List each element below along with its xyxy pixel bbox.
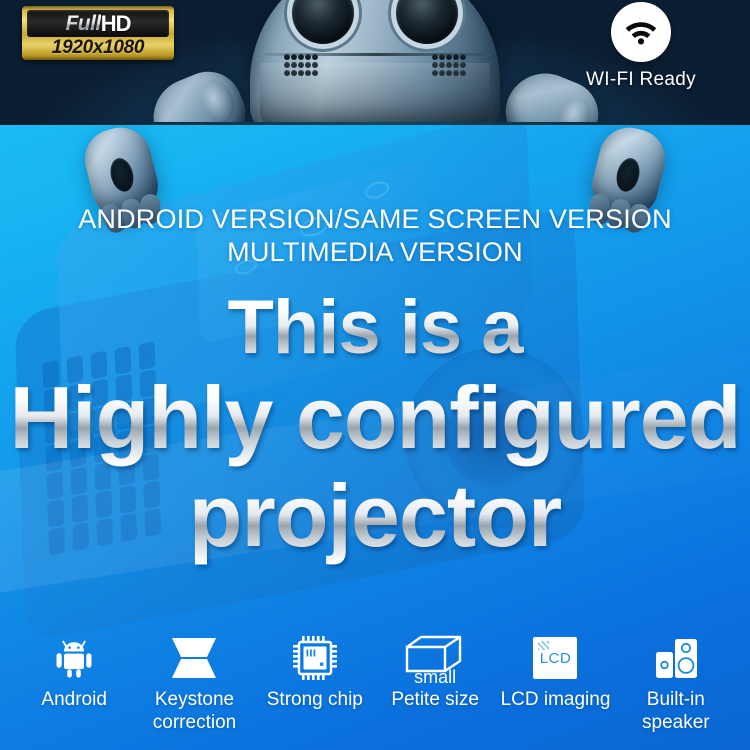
feature-label-android: Android [14, 688, 134, 711]
wifi-ready-label: WI-FI Ready [566, 69, 716, 91]
feature-android: Android [14, 634, 134, 711]
robot-grille-right [432, 54, 466, 80]
robot-head-shell [250, 0, 500, 125]
full-hd-word-hd: HD [101, 11, 131, 37]
wifi-ready-badge: WI-FI Ready [566, 2, 716, 91]
full-hd-word-full: Full [65, 12, 100, 36]
robot-knuckle-icon [613, 156, 643, 194]
feature-label-keystone: Keystone correction [134, 688, 254, 734]
full-hd-badge: FullHD 1920x1080 [22, 6, 174, 60]
android-robot-icon [14, 634, 134, 682]
feature-lcd: LCD LCD imaging [495, 634, 615, 711]
feature-row: Android Keystone correction [0, 628, 750, 750]
full-hd-resolution-text: 1920x1080 [27, 37, 169, 58]
small-box-shape: small [404, 634, 466, 682]
robot-eye-right-icon [396, 0, 458, 44]
feature-petite-size: small Petite size [375, 634, 495, 711]
robot-eye-left-icon [292, 0, 354, 44]
feature-keystone: Keystone correction [134, 634, 254, 734]
subheading-block: ANDROID VERSION/SAME SCREEN VERSION MULT… [0, 203, 750, 269]
keystone-correction-icon [134, 634, 254, 682]
subheading-line-2: MULTIMEDIA VERSION [0, 236, 750, 269]
feature-label-lcd: LCD imaging [495, 688, 615, 711]
wifi-icon [611, 2, 671, 62]
feature-chip: Strong chip [255, 634, 375, 711]
robot-knuckle-icon [107, 156, 137, 194]
feature-label-chip: Strong chip [255, 688, 375, 711]
small-box-caption: small [404, 668, 466, 686]
lcd-screen-shape: LCD [533, 637, 577, 679]
lcd-screen-caption: LCD [540, 650, 572, 667]
headline-line-3: projector [0, 467, 750, 565]
subheading-line-1: ANDROID VERSION/SAME SCREEN VERSION [0, 203, 750, 236]
full-hd-badge-panel: FullHD [27, 10, 169, 37]
headline-block: This is a Highly configured projector [0, 287, 750, 565]
lcd-screen-icon: LCD [495, 634, 615, 682]
robot-grille-left [284, 54, 318, 80]
small-box-icon: small [375, 634, 495, 682]
robot-arm-left [141, 61, 254, 125]
headline-line-1: This is a [0, 287, 750, 369]
feature-label-speaker: Built-in speaker [616, 688, 736, 734]
robot-head-graphic [210, 0, 540, 125]
product-poster: FullHD 1920x1080 WI-FI Ready ANDROID VER… [0, 0, 750, 750]
speaker-icon [616, 634, 736, 682]
feature-speaker: Built-in speaker [616, 634, 736, 734]
headline-line-2: Highly configured [0, 369, 750, 467]
cpu-chip-icon [255, 634, 375, 682]
feature-label-petite-size: Petite size [375, 688, 495, 711]
